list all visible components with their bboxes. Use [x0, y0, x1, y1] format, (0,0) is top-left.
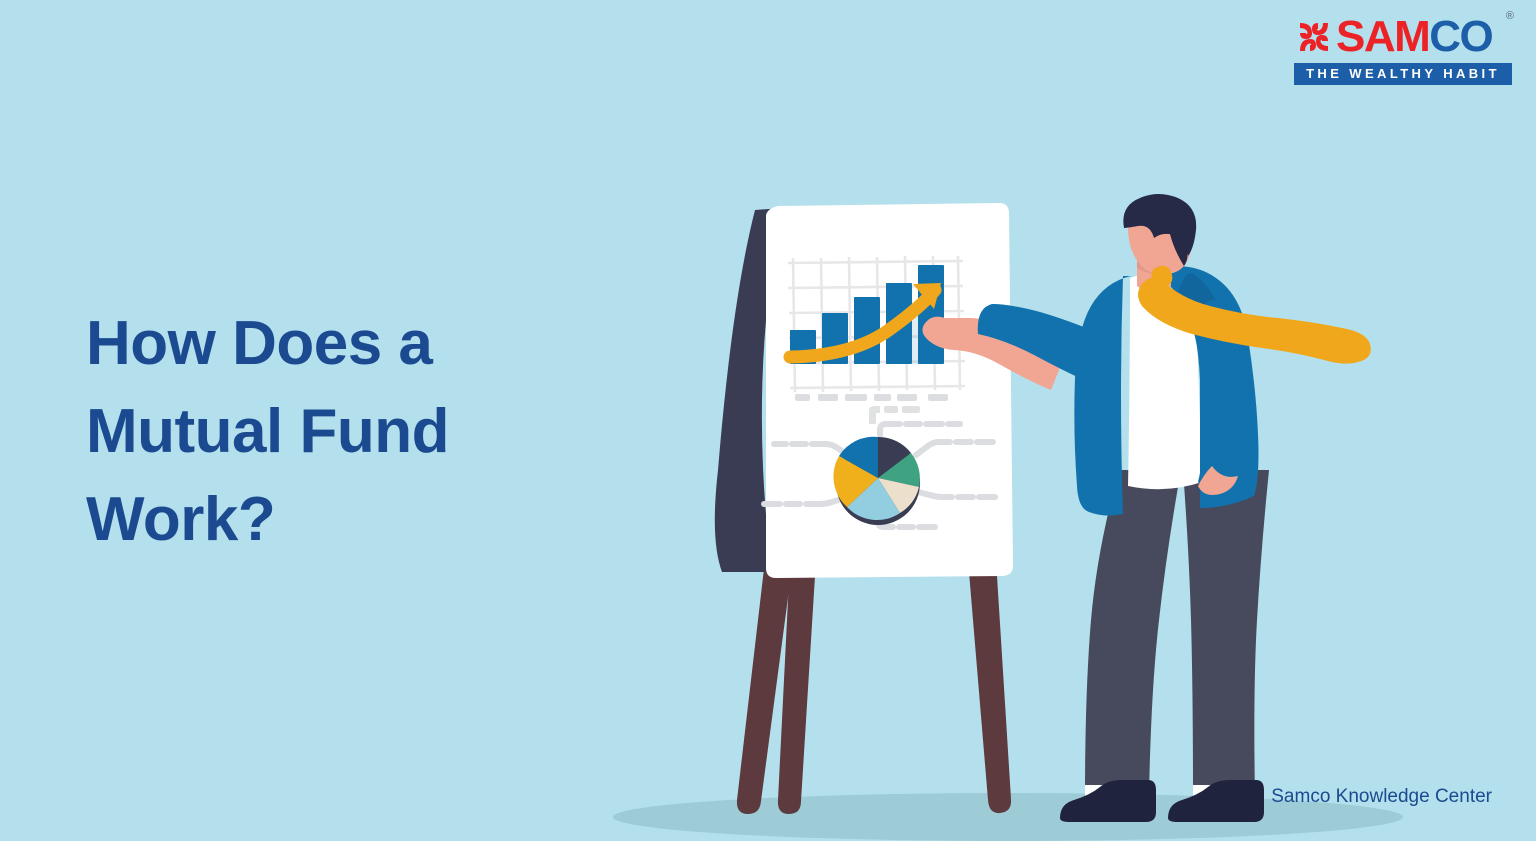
page-title: How Does a Mutual Fund Work?	[86, 300, 646, 564]
logo-wordmark-row: SAM CO ®	[1294, 14, 1512, 60]
right-leg	[1183, 470, 1269, 796]
slide-canvas: How Does a Mutual Fund Work? SAM CO ® TH…	[0, 0, 1536, 841]
knowledge-center-credit: Samco Knowledge Center	[1271, 786, 1492, 808]
logo-tagline: THE WEALTHY HABIT	[1294, 63, 1512, 85]
samco-logo[interactable]: SAM CO ® THE WEALTHY HABIT	[1294, 14, 1512, 88]
logo-text-co: CO	[1429, 15, 1492, 59]
left-leg	[1085, 470, 1181, 796]
registered-trademark-icon: ®	[1506, 10, 1514, 22]
logo-text-sam: SAM	[1336, 15, 1429, 59]
left-shoe	[1060, 780, 1156, 822]
right-shoe	[1168, 780, 1264, 822]
samco-swastika-mark-icon	[1294, 17, 1334, 57]
easel-legs	[737, 560, 1011, 814]
